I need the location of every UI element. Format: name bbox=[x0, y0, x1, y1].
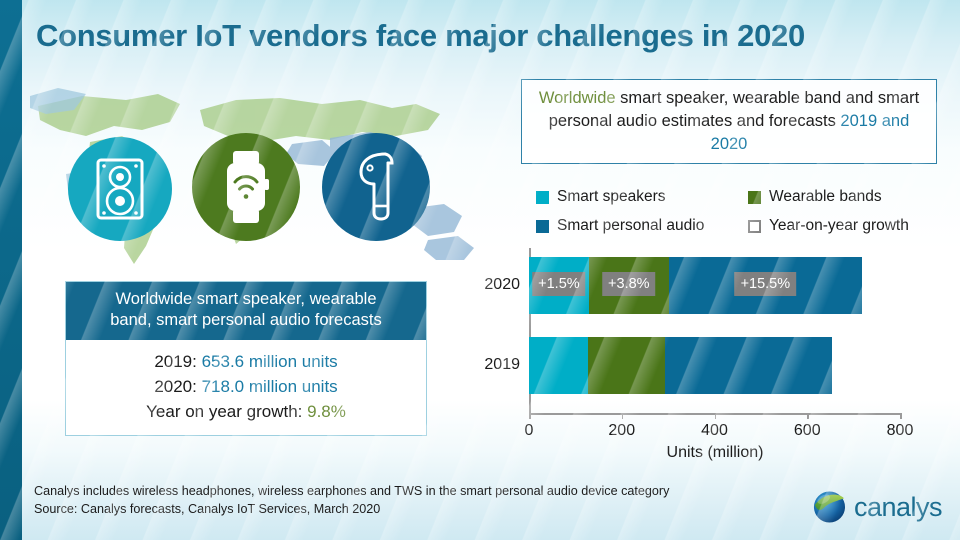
forecast-label-2020: 2020: bbox=[154, 377, 197, 396]
legend-label-smart-speakers: Smart speakers bbox=[557, 188, 666, 206]
forecast-label-growth: Year on year growth: bbox=[146, 402, 302, 421]
chart-title-worldwide: Worldwide bbox=[539, 89, 616, 107]
x-tick-label: 600 bbox=[794, 422, 821, 440]
legend-label-wearable-bands: Wearable bands bbox=[769, 188, 882, 206]
x-tick-label: 200 bbox=[608, 422, 635, 440]
forecast-row-2020: 2020: 718.0 million units bbox=[76, 374, 416, 399]
x-tick-label: 400 bbox=[701, 422, 728, 440]
forecast-value-2020: 718.0 million units bbox=[202, 377, 338, 396]
legend-swatch-wearable-bands bbox=[748, 191, 761, 204]
forecast-summary-box: Worldwide smart speaker, wearable band, … bbox=[65, 281, 427, 436]
legend-item-smart-speakers[interactable]: Smart speakers bbox=[536, 188, 666, 206]
legend-item-smart-personal-audio[interactable]: Smart personal audio bbox=[536, 217, 704, 235]
legend-item-wearable-bands[interactable]: Wearable bands bbox=[748, 188, 882, 206]
page-title: Consumer IoT vendors face major challeng… bbox=[36, 18, 936, 54]
chart-title-box: Worldwide smart speaker, wearable band a… bbox=[521, 79, 937, 164]
footnote-line2: Source: Canalys forecasts, Canalys IoT S… bbox=[34, 500, 669, 518]
legend-label-year-on-year-growth: Year-on-year growth bbox=[769, 217, 909, 235]
forecast-box-heading: Worldwide smart speaker, wearable band, … bbox=[66, 282, 426, 340]
bar-segment[interactable] bbox=[588, 337, 665, 394]
x-tick bbox=[529, 413, 531, 419]
legend-swatch-smart-personal-audio bbox=[536, 220, 549, 233]
forecast-heading-line2: band, smart personal audio forecasts bbox=[110, 311, 382, 329]
forecast-row-2019: 2019: 653.6 million units bbox=[76, 349, 416, 374]
bar-segment[interactable] bbox=[529, 337, 588, 394]
x-tick bbox=[622, 413, 624, 419]
x-tick-label: 0 bbox=[525, 422, 534, 440]
x-tick bbox=[807, 413, 809, 419]
x-tick bbox=[900, 413, 902, 419]
bar-segment[interactable] bbox=[665, 337, 832, 394]
chart-title: Worldwide smart speaker, wearable band a… bbox=[522, 87, 936, 156]
chart-legend: Smart speakers Wearable bands Smart pers… bbox=[536, 188, 940, 246]
stacked-bar-chart: 0200400600800 +1.5%+3.8%+15.5% 20202019 … bbox=[460, 248, 940, 463]
growth-label: +1.5% bbox=[532, 272, 586, 296]
slide-canvas: Consumer IoT vendors face major challeng… bbox=[0, 0, 960, 540]
growth-label: +3.8% bbox=[602, 272, 656, 296]
legend-item-year-on-year-growth[interactable]: Year-on-year growth bbox=[748, 217, 909, 235]
forecast-heading-line1: Worldwide smart speaker, wearable bbox=[115, 290, 376, 308]
x-axis-title: Units (million) bbox=[529, 444, 901, 462]
canalys-wordmark: canalys bbox=[854, 492, 942, 523]
smartwatch-circle bbox=[192, 133, 300, 241]
forecast-label-2019: 2019: bbox=[154, 352, 197, 371]
forecast-box-body: 2019: 653.6 million units 2020: 718.0 mi… bbox=[66, 340, 426, 424]
canalys-globe-icon bbox=[812, 489, 847, 525]
forecast-row-growth: Year on year growth: 9.8% bbox=[76, 399, 416, 424]
forecast-value-growth: 9.8% bbox=[307, 402, 346, 421]
footnote: Canalys includes wireless headphones, wi… bbox=[34, 482, 669, 518]
earbud-circle bbox=[322, 133, 430, 241]
left-accent-bar bbox=[0, 0, 22, 540]
growth-label: +15.5% bbox=[735, 272, 797, 296]
category-label-2019: 2019 bbox=[460, 356, 520, 374]
smart-speaker-icon bbox=[94, 157, 146, 221]
smart-speaker-circle bbox=[68, 137, 172, 241]
x-tick-label: 800 bbox=[887, 422, 914, 440]
earbud-icon bbox=[352, 151, 400, 223]
smartwatch-icon bbox=[217, 151, 275, 223]
forecast-value-2019: 653.6 million units bbox=[202, 352, 338, 371]
footnote-line1: Canalys includes wireless headphones, wi… bbox=[34, 482, 669, 500]
legend-label-smart-personal-audio: Smart personal audio bbox=[557, 217, 704, 235]
category-label-2020: 2020 bbox=[460, 276, 520, 294]
canalys-logo: canalys bbox=[812, 487, 942, 527]
legend-swatch-smart-speakers bbox=[536, 191, 549, 204]
legend-swatch-year-on-year-growth bbox=[748, 220, 761, 233]
x-tick bbox=[715, 413, 717, 419]
